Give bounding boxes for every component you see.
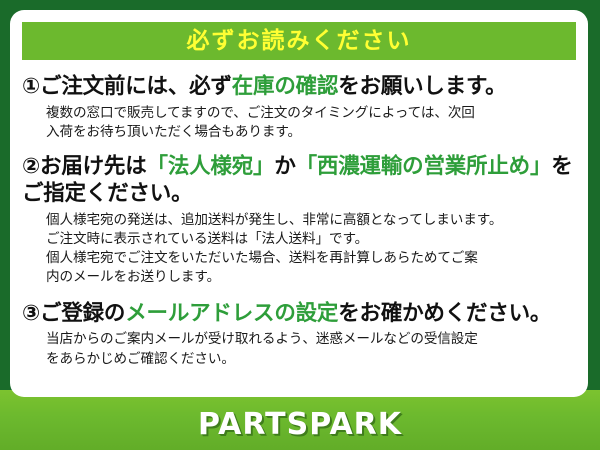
item-2-heading-part-1: お届け先は [40, 154, 147, 179]
item-3-body-line-1: 当店からのご案内メールが受け取れるよう、迷惑メールなどの受信設定 [46, 330, 578, 349]
item-1-body-line-1: 複数の窓口で販売してますので、ご注文のタイミングによっては、次回 [46, 104, 578, 123]
item-3-heading-part-1: ご登録の [40, 301, 125, 326]
item-1-body-line-2: 入荷をお待ち頂いただく場合もあります。 [46, 123, 578, 142]
notice-item-2: ②お届け先は「法人様宛」か「西濃運輸の営業所止め」をご指定ください。 個人様宅宛… [10, 154, 588, 288]
item-2-heading-accent-1: 「法人様宛」 [147, 154, 275, 179]
item-1-heading: ①ご注文前には、必ず在庫の確認をお願いします。 [22, 74, 578, 101]
item-2-body-line-1: 個人様宅宛の発送は、追加送料が発生し、非常に高額となってしまいます。 [46, 211, 578, 230]
item-2-body-line-2: ご注文時に表示されている送料は「法人送料」です。 [46, 230, 578, 249]
item-1-heading-part-3: をお願いします。 [338, 74, 506, 99]
item-1-heading-part-1: ご注文前には、必ず [40, 74, 232, 99]
notice-item-1: ①ご注文前には、必ず在庫の確認をお願いします。 複数の窓口で販売してますので、ご… [10, 74, 588, 142]
notice-card: 必ずお読みください ①ご注文前には、必ず在庫の確認をお願いします。 複数の窓口で… [10, 10, 588, 397]
item-3-body-line-2: をあらかじめご確認ください。 [46, 350, 578, 369]
item-3-heading-accent: メールアドレスの設定 [125, 301, 338, 326]
item-2-marker: ② [22, 154, 40, 179]
item-1-heading-accent: 在庫の確認 [232, 74, 339, 99]
item-2-body-line-3: 個人様宅宛でご注文をいただいた場合、送料を再計算しあらためてご案 [46, 249, 578, 268]
item-2-heading: ②お届け先は「法人様宛」か「西濃運輸の営業所止め」をご指定ください。 [22, 154, 578, 207]
item-3-heading-part-3: をお確かめください。 [338, 301, 551, 326]
item-3-marker: ③ [22, 301, 40, 326]
item-1-body: 複数の窓口で販売してますので、ご注文のタイミングによっては、次回 入荷をお待ち頂… [22, 101, 578, 143]
item-2-body: 個人様宅宛の発送は、追加送料が発生し、非常に高額となってしまいます。 ご注文時に… [22, 208, 578, 288]
notice-item-3: ③ご登録のメールアドレスの設定をお確かめください。 当店からのご案内メールが受け… [10, 301, 588, 369]
notice-banner: PARTSPARK 必ずお読みください ①ご注文前には、必ず在庫の確認をお願いし… [0, 0, 600, 450]
item-1-marker: ① [22, 74, 40, 99]
item-3-body: 当店からのご案内メールが受け取れるよう、迷惑メールなどの受信設定 をあらかじめご… [22, 327, 578, 369]
item-2-heading-accent-2: 「西濃運輸の営業所止め」 [296, 154, 552, 179]
item-2-body-line-4: 内のメールをお送りします。 [46, 268, 578, 287]
brand-logo-text: PARTSPARK [0, 407, 600, 442]
item-3-heading: ③ご登録のメールアドレスの設定をお確かめください。 [22, 301, 578, 328]
item-2-heading-part-3: か [274, 154, 295, 179]
header-title: 必ずお読みください [187, 30, 412, 53]
header-bar: 必ずお読みください [22, 22, 576, 60]
notice-content: ①ご注文前には、必ず在庫の確認をお願いします。 複数の窓口で販売してますので、ご… [10, 68, 588, 369]
